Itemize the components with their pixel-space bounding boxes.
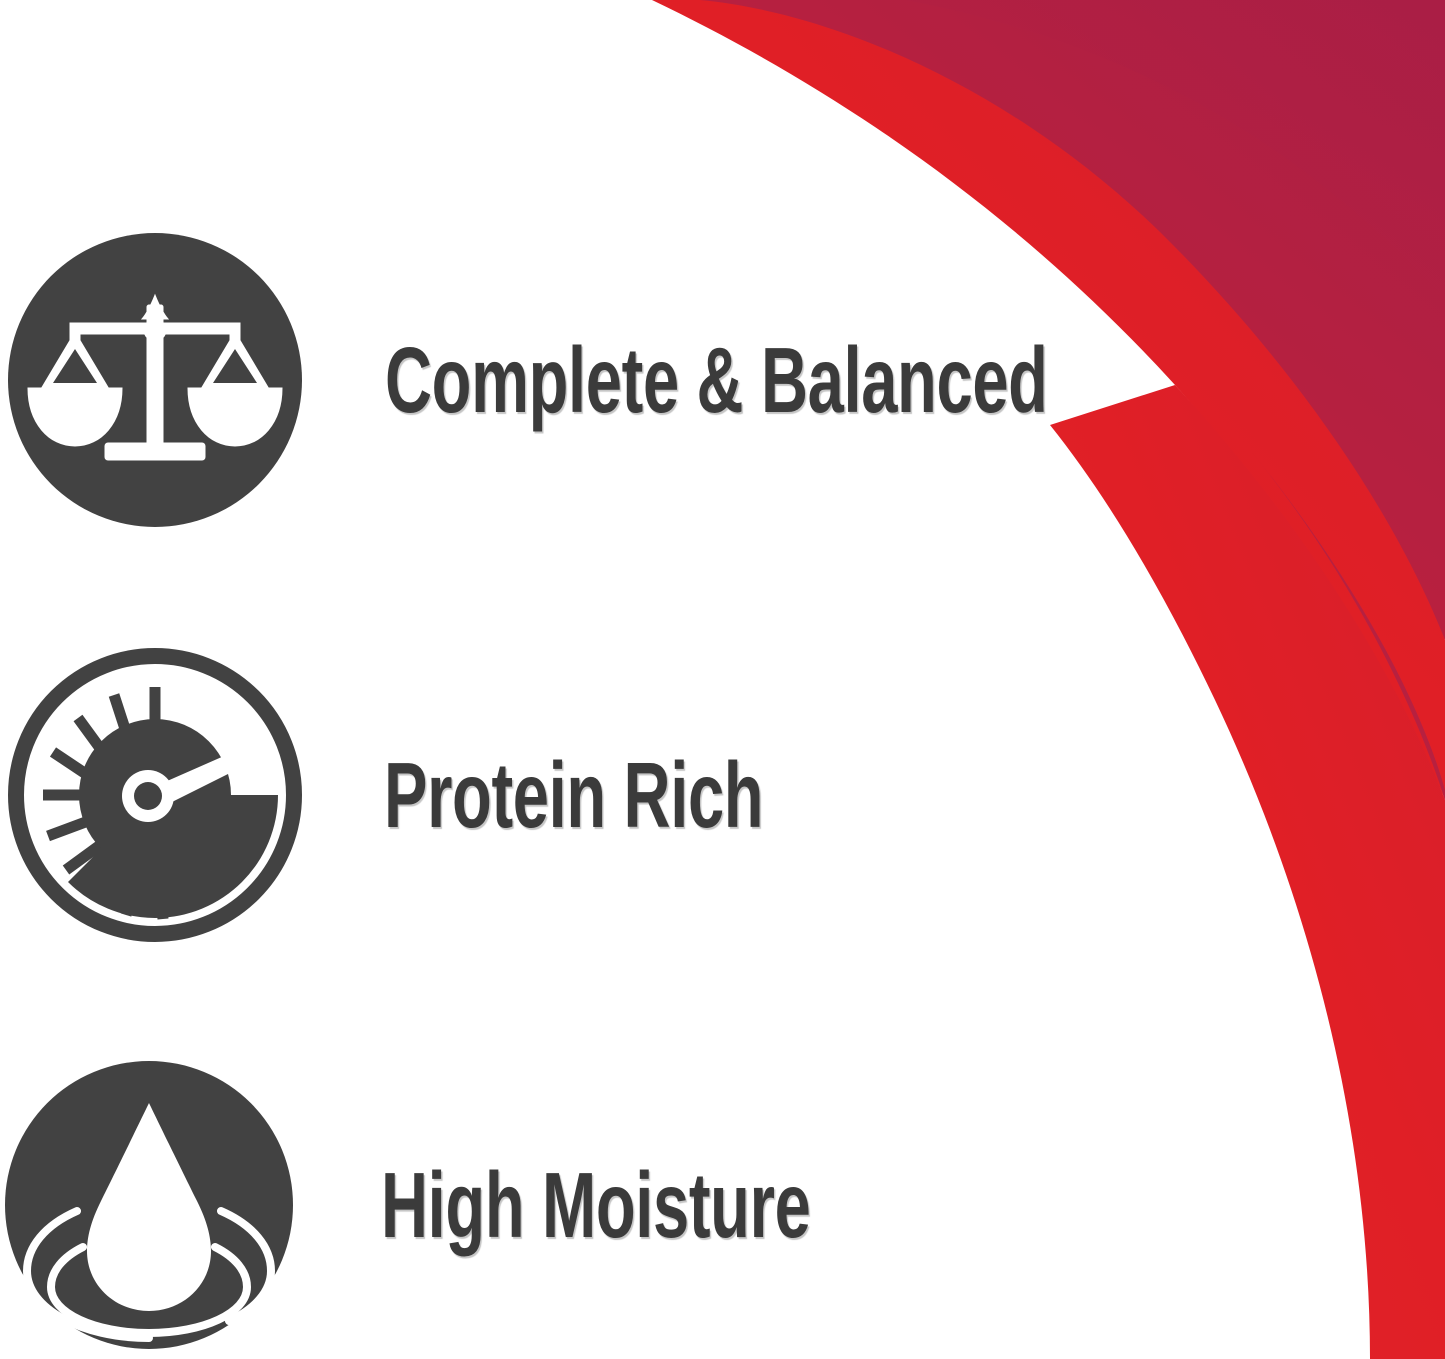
balance-scale-icon xyxy=(8,233,302,527)
benefit-row-protein-rich: Protein Rich xyxy=(0,648,1445,942)
benefits-panel: Complete & Balanced xyxy=(0,0,1445,1359)
benefit-row-high-moisture: High Moisture xyxy=(0,1058,1445,1352)
benefit-row-complete-and-balanced: Complete & Balanced xyxy=(0,233,1445,527)
gauge-hub-inner xyxy=(134,782,162,810)
benefit-label-complete-and-balanced: Complete & Balanced xyxy=(385,334,1048,427)
water-droplet-icon xyxy=(5,1061,293,1349)
scale-pivot xyxy=(144,319,166,341)
benefit-label-protein-rich: Protein Rich xyxy=(384,749,763,842)
gauge-meter-icon xyxy=(8,648,302,942)
benefit-label-high-moisture: High Moisture xyxy=(381,1159,810,1252)
scale-base xyxy=(105,443,205,460)
